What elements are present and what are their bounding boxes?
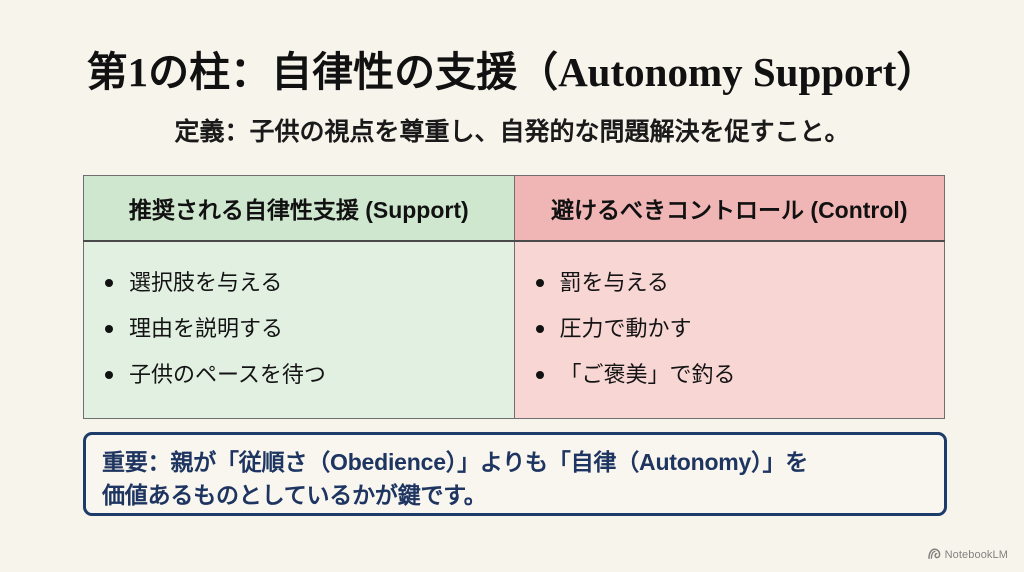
- control-list: 罰を与える 圧力で動かす 「ご褒美」で釣る: [515, 242, 945, 418]
- list-item: 理由を説明する: [101, 306, 504, 352]
- page-subtitle: 定義：子供の視点を尊重し、自発的な問題解決を促すこと。: [0, 115, 1024, 149]
- key-point-callout: 重要：親が「従順さ（Obedience）」よりも「自律（Autonomy）」を …: [83, 432, 947, 516]
- list-item: 罰を与える: [532, 260, 935, 306]
- column-header-support: 推奨される自律性支援 (Support): [84, 176, 515, 242]
- notebooklm-logo-icon: [928, 546, 941, 564]
- column-body-control: 罰を与える 圧力で動かす 「ご褒美」で釣る: [514, 241, 945, 419]
- column-header-control: 避けるべきコントロール (Control): [514, 176, 945, 242]
- page-title: 第1の柱：自律性の支援（Autonomy Support）: [0, 46, 1024, 98]
- list-item: 圧力で動かす: [532, 306, 935, 352]
- watermark-label: NotebookLM: [945, 549, 1008, 561]
- table-header-row: 推奨される自律性支援 (Support) 避けるべきコントロール (Contro…: [84, 176, 945, 242]
- callout-line-2: 価値あるものとしているかが鍵です。: [102, 479, 928, 512]
- callout-line-1: 重要：親が「従順さ（Obedience）」よりも「自律（Autonomy）」を: [102, 446, 928, 479]
- watermark: NotebookLM: [928, 546, 1008, 564]
- list-item: 選択肢を与える: [101, 260, 504, 306]
- table-row: 選択肢を与える 理由を説明する 子供のペースを待つ 罰を与える 圧力で動かす 「…: [84, 241, 945, 419]
- list-item: 「ご褒美」で釣る: [532, 352, 935, 398]
- comparison-table: 推奨される自律性支援 (Support) 避けるべきコントロール (Contro…: [83, 175, 945, 419]
- support-list: 選択肢を与える 理由を説明する 子供のペースを待つ: [84, 242, 514, 418]
- list-item: 子供のペースを待つ: [101, 352, 504, 398]
- column-body-support: 選択肢を与える 理由を説明する 子供のペースを待つ: [84, 241, 515, 419]
